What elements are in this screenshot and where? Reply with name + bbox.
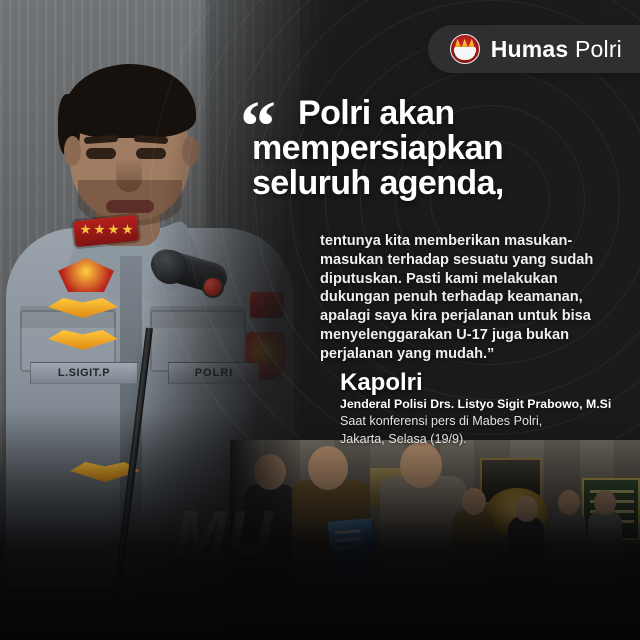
poster-canvas: L.SIGIT.P POLRI — [0, 0, 640, 640]
brand-bold-text: Humas — [491, 36, 569, 62]
attribution-name: Jenderal Polisi Drs. Listyo Sigit Prabow… — [340, 397, 630, 411]
quote-headline: Polri akan mempersiapkan seluruh agenda, — [252, 96, 630, 201]
polri-emblem-icon — [450, 34, 480, 64]
quote-line-2: mempersiapkan — [252, 131, 630, 166]
brand-label: Humas Polri — [491, 36, 622, 63]
brand-light-text: Polri — [575, 36, 622, 62]
quote-body-text: tentunya kita memberikan masukan-masukan… — [320, 232, 620, 363]
attribution-occasion: Saat konferensi pers di Mabes Polri, — [340, 413, 630, 429]
attribution-place-date: Jakarta, Selasa (19/9). — [340, 431, 630, 447]
quote-open-mark: “ — [240, 98, 273, 156]
quote-line-3: seluruh agenda, — [252, 166, 630, 201]
quote-line-1: Polri akan — [298, 96, 630, 131]
humas-polri-header[interactable]: Humas Polri — [428, 25, 640, 73]
attribution-block: Kapolri Jenderal Polisi Drs. Listyo Sigi… — [340, 370, 630, 447]
attribution-role: Kapolri — [340, 370, 630, 395]
quote-block: “ Polri akan mempersiapkan seluruh agend… — [252, 96, 630, 201]
